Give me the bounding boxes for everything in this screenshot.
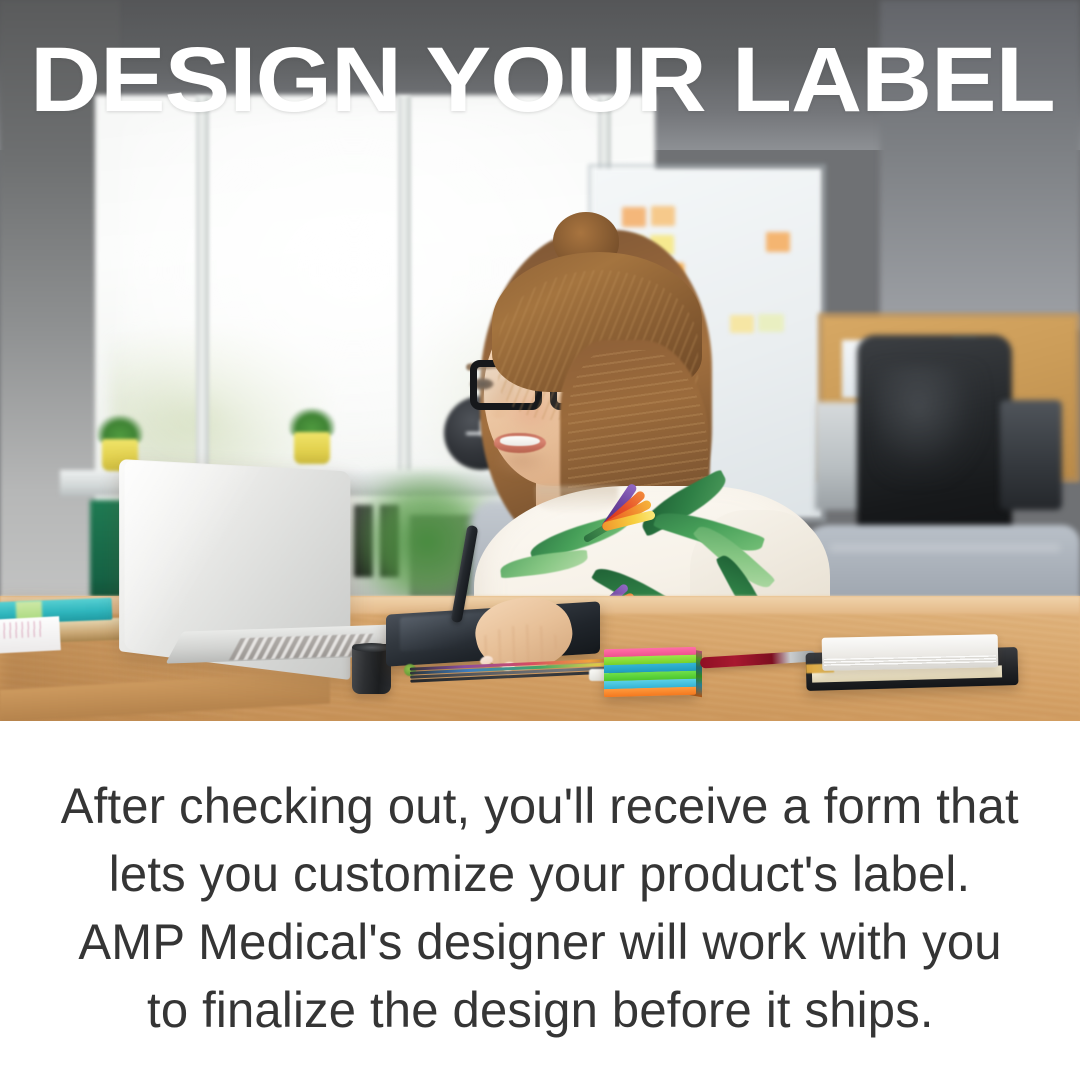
description-block: After checking out, you'll receive a for… — [0, 721, 1080, 1080]
sofa-fold — [830, 545, 1060, 551]
description-line-4: to finalize the design before it ships. — [147, 976, 934, 1044]
description-line-2: lets you customize your product's label. — [109, 840, 970, 908]
chin-shadow — [492, 452, 550, 478]
page-title: DESIGN YOUR LABEL — [30, 32, 1080, 128]
chair-highlight — [875, 365, 985, 485]
hero-photo: DESIGN YOUR LABEL — [0, 0, 1080, 721]
window-mullion — [398, 96, 411, 496]
teeth — [500, 436, 540, 446]
plant-pot — [294, 432, 330, 464]
potted-plant-right — [292, 428, 332, 464]
description-line-3: AMP Medical's designer will work with yo… — [78, 908, 1001, 976]
person — [440, 190, 860, 650]
poster: DESIGN YOUR LABEL After checking out, yo… — [0, 0, 1080, 1080]
sticky-note-cube — [604, 647, 696, 697]
paper-sheet-lines — [0, 621, 44, 640]
description-line-1: After checking out, you'll receive a for… — [61, 772, 1019, 840]
chair-mesh-panel — [1000, 400, 1062, 510]
window-mullion — [196, 96, 209, 496]
